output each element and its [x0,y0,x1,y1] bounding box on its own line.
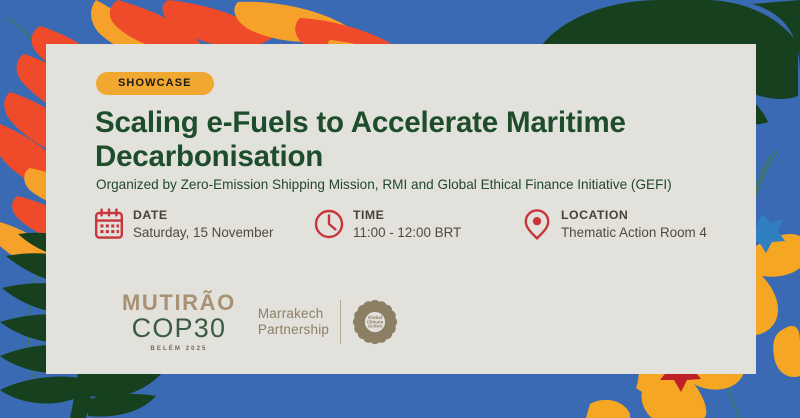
global-climate-action-seal-icon: Global Climate Action [352,299,398,345]
showcase-badge: SHOWCASE [96,72,214,95]
meta-label-time: TIME [353,208,461,223]
event-card: SHOWCASE Scaling e-Fuels to Accelerate M… [46,44,756,374]
meta-value-location: Thematic Action Room 4 [561,224,707,241]
meta-label-date: DATE [133,208,273,223]
title-line-1: Scaling e-Fuels to Accelerate Maritime [95,106,626,139]
meta-label-location: LOCATION [561,208,707,223]
cop30-belem-text: BELÉM 2025 [150,346,207,352]
clock-icon [314,207,344,241]
marrakech-line-2: Partnership [258,322,329,337]
marrakech-line-1: Marrakech [258,306,324,321]
organizer-text: Organized by Zero-Emission Shipping Miss… [96,176,746,194]
title-line-2: Decarbonisation [95,140,323,173]
marrakech-partnership-text: Marrakech Partnership [258,306,329,338]
cop30-logo: MUTIRÃO COP30 BELÉM 2025 [122,292,236,352]
cop30-text: COP30 [132,315,227,342]
meta-item-date: DATE Saturday, 15 November [94,206,273,242]
page-title: Scaling e-Fuels to Accelerate Maritime D… [95,106,715,174]
marrakech-partnership-logo: Marrakech Partnership [258,299,398,345]
meta-item-time: TIME 11:00 - 12:00 BRT [314,206,461,242]
event-poster: SHOWCASE Scaling e-Fuels to Accelerate M… [0,0,800,418]
calendar-icon [94,207,124,241]
meta-item-location: LOCATION Thematic Action Room 4 [522,206,707,242]
location-pin-icon [522,207,552,241]
event-meta-row: DATE Saturday, 15 November TIME 11:00 - … [94,206,754,262]
logo-divider [340,300,341,344]
meta-value-date: Saturday, 15 November [133,224,273,241]
meta-value-time: 11:00 - 12:00 BRT [353,224,461,241]
seal-line-3: Action [368,324,382,329]
cop30-mutirao-text: MUTIRÃO [122,292,236,314]
logo-strip: MUTIRÃO COP30 BELÉM 2025 Marrakech Partn… [122,292,398,352]
